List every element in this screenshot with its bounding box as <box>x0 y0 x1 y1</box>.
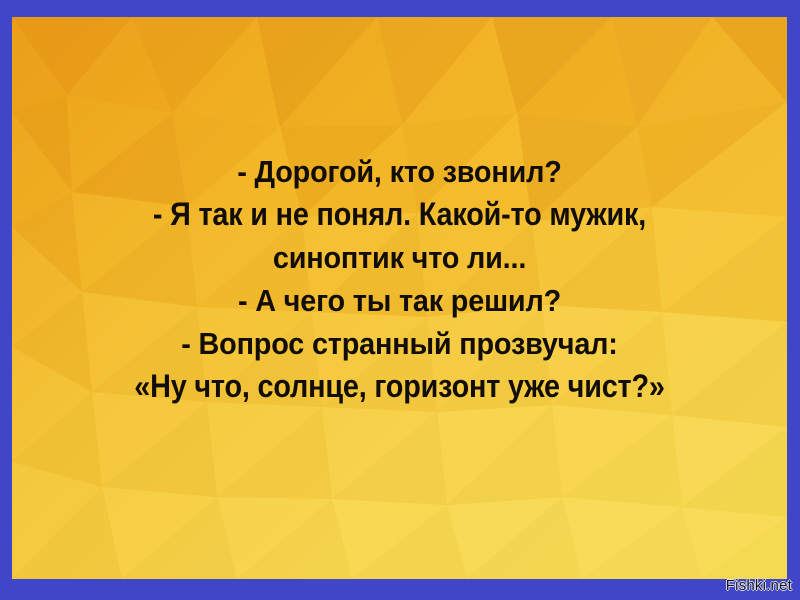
caption-line-2: - Я так и не понял. Какой-то мужик, <box>51 193 749 236</box>
meme-card: - Дорогой, кто звонил? - Я так и не поня… <box>0 0 800 600</box>
caption-line-1: - Дорогой, кто звонил? <box>39 150 760 193</box>
caption-line-4: - А чего ты так решил? <box>39 279 760 322</box>
caption-line-3: синоптик что ли... <box>39 236 760 279</box>
caption-line-5: - Вопрос странный прозвучал: <box>39 322 760 365</box>
poster-image: - Дорогой, кто звонил? - Я так и не поня… <box>12 17 787 579</box>
joke-caption: - Дорогой, кто звонил? - Я так и не поня… <box>12 150 787 408</box>
caption-line-6: «Ну что, солнце, горизонт уже чист?» <box>51 365 749 408</box>
site-watermark: Fishki.net <box>726 577 792 594</box>
